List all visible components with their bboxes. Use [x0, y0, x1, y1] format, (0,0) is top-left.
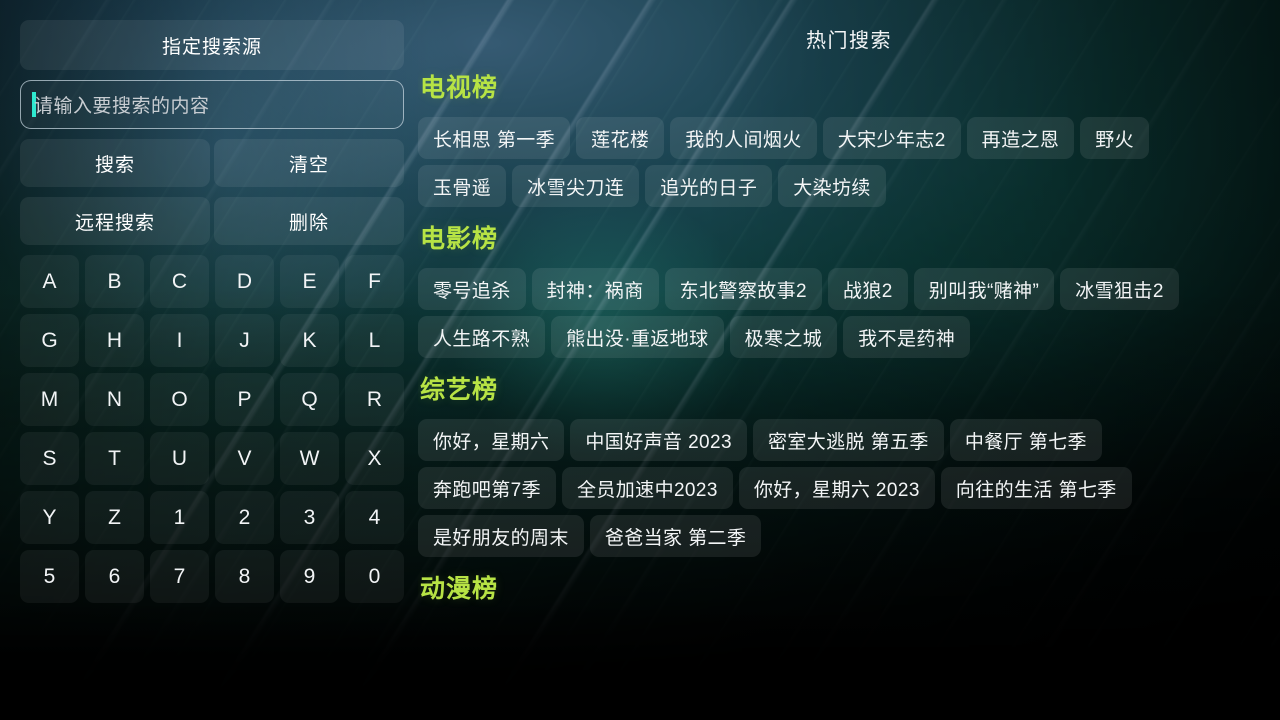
specify-search-source-button[interactable]: 指定搜索源	[20, 20, 404, 70]
hot-search-tag[interactable]: 你好，星期六 2023	[739, 467, 935, 509]
hot-search-tag[interactable]: 中餐厅 第七季	[950, 419, 1102, 461]
key-h[interactable]: H	[85, 314, 144, 367]
hot-search-tag[interactable]: 追光的日子	[645, 165, 772, 207]
key-q[interactable]: Q	[280, 373, 339, 426]
key-n[interactable]: N	[85, 373, 144, 426]
key-m[interactable]: M	[20, 373, 79, 426]
section-title: 电影榜	[418, 219, 1280, 255]
key-s[interactable]: S	[20, 432, 79, 485]
hot-search-tag[interactable]: 莲花楼	[576, 117, 664, 159]
search-screen: 指定搜索源 请输入要搜索的内容 搜索 清空 远程搜索 删除 ABCDEFGHIJ…	[0, 0, 1280, 720]
hot-search-tag[interactable]: 长相思 第一季	[418, 117, 570, 159]
remote-search-button[interactable]: 远程搜索	[20, 197, 210, 245]
section-title: 电视榜	[418, 68, 1280, 104]
hot-search-tag[interactable]: 密室大逃脱 第五季	[753, 419, 944, 461]
key-i[interactable]: I	[150, 314, 209, 367]
hot-search-tag[interactable]: 大染坊续	[778, 165, 886, 207]
key-5[interactable]: 5	[20, 550, 79, 603]
key-4[interactable]: 4	[345, 491, 404, 544]
hot-search-tag[interactable]: 冰雪狙击2	[1060, 268, 1179, 310]
key-1[interactable]: 1	[150, 491, 209, 544]
key-y[interactable]: Y	[20, 491, 79, 544]
search-input[interactable]: 请输入要搜索的内容	[20, 80, 404, 129]
hot-search-tag[interactable]: 封神：祸商	[532, 268, 659, 310]
key-g[interactable]: G	[20, 314, 79, 367]
key-a[interactable]: A	[20, 255, 79, 308]
hot-search-tag[interactable]: 我的人间烟火	[670, 117, 816, 159]
key-2[interactable]: 2	[215, 491, 274, 544]
key-t[interactable]: T	[85, 432, 144, 485]
hot-search-tag[interactable]: 向往的生活 第七季	[941, 467, 1132, 509]
hot-search-tag[interactable]: 玉骨遥	[418, 165, 506, 207]
hot-search-tag[interactable]: 野火	[1080, 117, 1149, 159]
ranking-section: 综艺榜你好，星期六中国好声音 2023密室大逃脱 第五季中餐厅 第七季奔跑吧第7…	[418, 370, 1280, 557]
hot-search-tag[interactable]: 零号追杀	[418, 268, 526, 310]
tag-list: 长相思 第一季莲花楼我的人间烟火大宋少年志2再造之恩野火玉骨遥冰雪尖刀连追光的日…	[418, 117, 1216, 207]
key-r[interactable]: R	[345, 373, 404, 426]
key-x[interactable]: X	[345, 432, 404, 485]
key-w[interactable]: W	[280, 432, 339, 485]
ranking-section: 电视榜长相思 第一季莲花楼我的人间烟火大宋少年志2再造之恩野火玉骨遥冰雪尖刀连追…	[418, 68, 1280, 207]
key-d[interactable]: D	[215, 255, 274, 308]
secondary-action-row: 远程搜索 删除	[20, 197, 404, 245]
hot-search-title: 热门搜索	[418, 24, 1280, 53]
hot-search-tag[interactable]: 大宋少年志2	[823, 117, 961, 159]
key-z[interactable]: Z	[85, 491, 144, 544]
key-k[interactable]: K	[280, 314, 339, 367]
hot-search-tag[interactable]: 再造之恩	[967, 117, 1075, 159]
search-input-placeholder: 请输入要搜索的内容	[34, 91, 210, 118]
hot-search-tag[interactable]: 是好朋友的周末	[418, 515, 584, 557]
key-f[interactable]: F	[345, 255, 404, 308]
hot-search-tag[interactable]: 全员加速中2023	[562, 467, 733, 509]
key-b[interactable]: B	[85, 255, 144, 308]
section-title: 动漫榜	[418, 569, 1280, 605]
key-8[interactable]: 8	[215, 550, 274, 603]
ranking-section: 电影榜零号追杀封神：祸商东北警察故事2战狼2别叫我“赌神”冰雪狙击2人生路不熟熊…	[418, 219, 1280, 358]
search-panel: 指定搜索源 请输入要搜索的内容 搜索 清空 远程搜索 删除 ABCDEFGHIJ…	[20, 20, 404, 603]
hot-search-tag[interactable]: 东北警察故事2	[665, 268, 822, 310]
onscreen-keyboard: ABCDEFGHIJKLMNOPQRSTUVWXYZ1234567890	[20, 255, 404, 603]
hot-search-tag[interactable]: 熊出没·重返地球	[551, 316, 724, 358]
delete-button[interactable]: 删除	[214, 197, 404, 245]
search-button[interactable]: 搜索	[20, 139, 210, 187]
hot-search-tag[interactable]: 别叫我“赌神”	[914, 268, 1054, 310]
hot-search-tag[interactable]: 我不是药神	[843, 316, 970, 358]
tag-list: 零号追杀封神：祸商东北警察故事2战狼2别叫我“赌神”冰雪狙击2人生路不熟熊出没·…	[418, 268, 1216, 358]
key-9[interactable]: 9	[280, 550, 339, 603]
key-o[interactable]: O	[150, 373, 209, 426]
hot-search-panel: 热门搜索 电视榜长相思 第一季莲花楼我的人间烟火大宋少年志2再造之恩野火玉骨遥冰…	[418, 0, 1280, 720]
hot-search-tag[interactable]: 你好，星期六	[418, 419, 564, 461]
key-7[interactable]: 7	[150, 550, 209, 603]
hot-search-tag[interactable]: 中国好声音 2023	[570, 419, 747, 461]
hot-search-tag[interactable]: 爸爸当家 第二季	[590, 515, 761, 557]
key-c[interactable]: C	[150, 255, 209, 308]
hot-search-tag[interactable]: 战狼2	[828, 268, 908, 310]
key-j[interactable]: J	[215, 314, 274, 367]
key-p[interactable]: P	[215, 373, 274, 426]
key-u[interactable]: U	[150, 432, 209, 485]
tag-list: 你好，星期六中国好声音 2023密室大逃脱 第五季中餐厅 第七季奔跑吧第7季全员…	[418, 419, 1216, 557]
key-6[interactable]: 6	[85, 550, 144, 603]
ranking-section: 动漫榜	[418, 569, 1280, 618]
clear-button[interactable]: 清空	[214, 139, 404, 187]
key-e[interactable]: E	[280, 255, 339, 308]
key-l[interactable]: L	[345, 314, 404, 367]
hot-search-tag[interactable]: 奔跑吧第7季	[418, 467, 556, 509]
hot-search-tag[interactable]: 冰雪尖刀连	[512, 165, 639, 207]
key-0[interactable]: 0	[345, 550, 404, 603]
hot-search-tag[interactable]: 极寒之城	[730, 316, 838, 358]
key-v[interactable]: V	[215, 432, 274, 485]
key-3[interactable]: 3	[280, 491, 339, 544]
section-title: 综艺榜	[418, 370, 1280, 406]
ranking-sections: 电视榜长相思 第一季莲花楼我的人间烟火大宋少年志2再造之恩野火玉骨遥冰雪尖刀连追…	[418, 68, 1280, 630]
hot-search-tag[interactable]: 人生路不熟	[418, 316, 545, 358]
primary-action-row: 搜索 清空	[20, 139, 404, 187]
